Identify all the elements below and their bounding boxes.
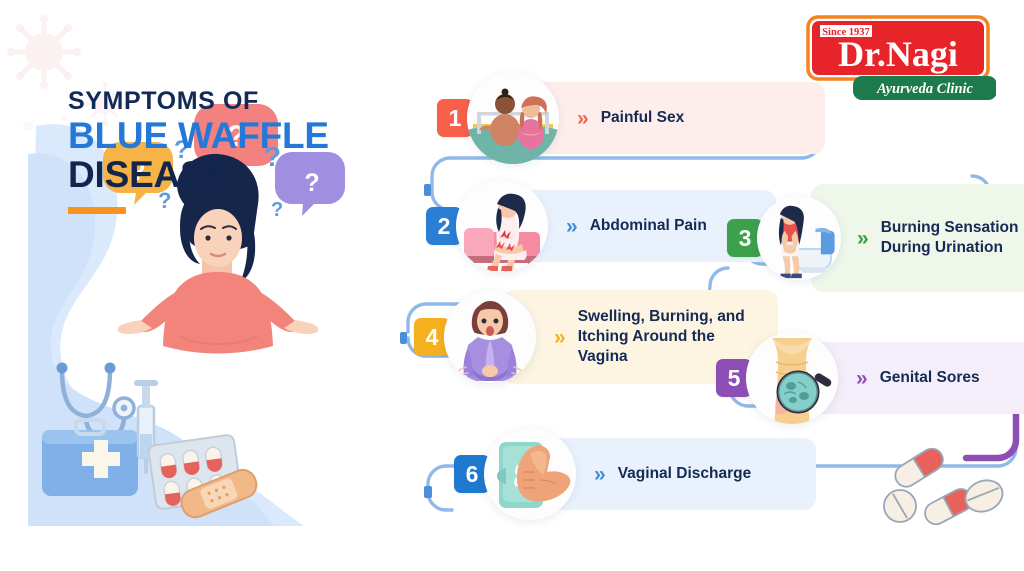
infographic-canvas: ? ? ? ? ? ? ?: [0, 0, 1024, 571]
symptom-card-6: » Vaginal Discharge: [542, 438, 816, 510]
symptom-label-5: Genital Sores: [880, 368, 980, 388]
chevron-icon-2: »: [566, 216, 577, 237]
woman-at-toilet-icon: [757, 196, 841, 280]
woman-in-purple-robe-icon: [444, 291, 536, 383]
couple-in-bed-icon: [467, 72, 559, 164]
symptom-label-6: Vaginal Discharge: [618, 464, 752, 484]
title-underline: [68, 207, 126, 214]
stethoscope-icon: [57, 363, 135, 438]
magnifier-on-abdomen-icon: [746, 332, 838, 424]
woman-holding-belly-icon: [456, 180, 548, 272]
symptom-card-1: » Painful Sex: [525, 82, 825, 154]
page-title: SYMPTOMS OF BLUE WAFFLE DISEASE: [68, 88, 428, 214]
tablet-round: [884, 490, 916, 522]
chevron-icon-4: »: [554, 327, 565, 348]
title-line-2: BLUE WAFFLE: [68, 116, 428, 155]
symptom-row-5[interactable]: 5: [716, 332, 1024, 424]
symptom-row-1[interactable]: 1: [437, 72, 825, 164]
pills-decoration: [876, 444, 1016, 540]
capsule-red-white-1: [891, 445, 947, 491]
chevron-icon-5: »: [856, 368, 867, 389]
hand-holding-pad-icon: [484, 428, 576, 520]
symptom-label-4: Swelling, Burning, and Itching Around th…: [578, 307, 758, 366]
tablet-oval: [961, 475, 1007, 517]
title-line-3: DISEASE: [68, 155, 428, 194]
symptom-label-2: Abdominal Pain: [590, 216, 707, 236]
symptom-card-3: » Burning Sensation During Urination: [811, 184, 1024, 292]
title-line-1: SYMPTOMS OF: [68, 88, 428, 114]
symptom-row-6[interactable]: 6: [454, 428, 816, 520]
symptom-row-2[interactable]: 2: [426, 180, 776, 272]
symptom-label-1: Painful Sex: [601, 108, 685, 128]
symptom-label-3: Burning Sensation During Urination: [881, 218, 1021, 258]
chevron-icon-1: »: [577, 108, 588, 129]
first-aid-kit-icon: [42, 420, 138, 496]
chevron-icon-3: »: [857, 228, 868, 249]
chevron-icon-6: »: [594, 464, 605, 485]
